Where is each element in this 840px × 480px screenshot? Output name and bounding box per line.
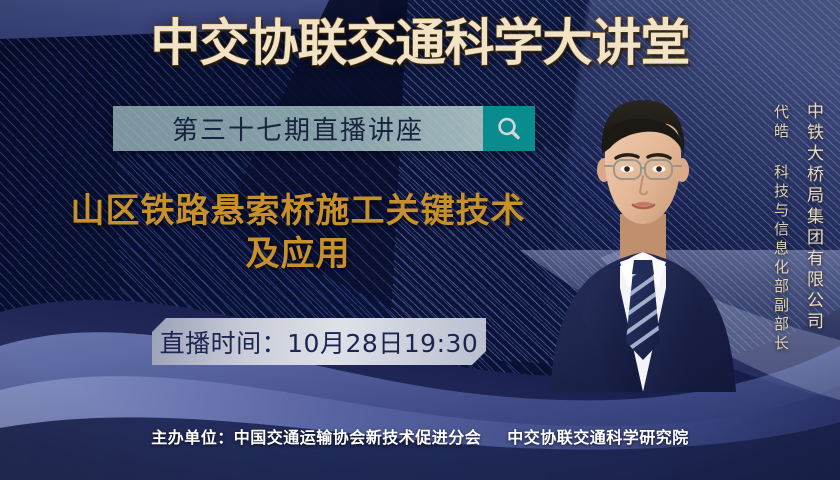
organizer-footer: 主办单位：中国交通运输协会新技术促进分会中交协联交通科学研究院: [0, 424, 840, 448]
search-button[interactable]: [483, 106, 535, 151]
episode-label: 第三十七期直播讲座: [113, 106, 483, 151]
speaker-name-and-role: 代皓 科技与信息化部副部长: [771, 104, 792, 354]
page-title: 中交协联交通科学大讲堂: [0, 14, 840, 72]
organizer-secondary: 中交协联交通科学研究院: [507, 428, 689, 447]
speaker-photo-illustration: [548, 92, 738, 392]
speaker-portrait: [548, 92, 738, 392]
organizer-primary: 主办单位：中国交通运输协会新技术促进分会: [151, 428, 481, 447]
search-icon: [495, 115, 523, 143]
lecture-title: 山区铁路悬索桥施工关键技术 及应用: [28, 190, 568, 276]
lecture-title-line2: 及应用: [28, 233, 568, 276]
broadcast-time-badge: 直播时间：10月28日19:30: [152, 318, 486, 365]
lecture-title-line1: 山区铁路悬索桥施工关键技术: [71, 191, 526, 231]
speaker-organization: 中铁大桥局集团有限公司: [801, 102, 826, 333]
episode-banner: 第三十七期直播讲座: [113, 106, 535, 151]
live-lecture-poster: 中交协联交通科学大讲堂 第三十七期直播讲座 山区铁路悬索桥施工关键技术 及应用 …: [0, 0, 840, 480]
